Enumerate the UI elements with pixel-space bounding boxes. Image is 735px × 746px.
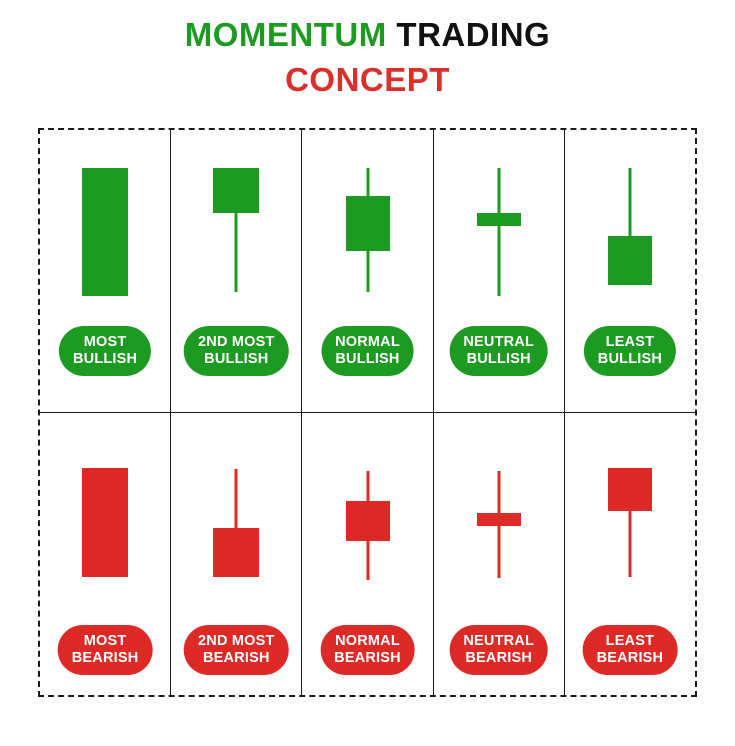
cell-normal-bearish[interactable]: NORMALBEARISH [302, 413, 433, 696]
badge-line-one: NEUTRAL [463, 633, 534, 649]
candlestick-body-center-both-wicks [302, 421, 432, 609]
badge-line-one: LEAST [606, 633, 655, 649]
badge-line-one: 2ND MOST [198, 334, 275, 350]
status-badge[interactable]: LEASTBEARISH [583, 625, 678, 675]
badge-line-one: LEAST [606, 334, 655, 350]
badge-line-two: BULLISH [198, 351, 275, 368]
candlestick-full-body-marubozu [40, 421, 170, 609]
badge-line-two: BEARISH [597, 650, 664, 667]
candle-body [346, 501, 390, 540]
candle-body [213, 168, 259, 213]
title-word-trading: TRADING [396, 16, 550, 53]
candle-body [477, 213, 521, 226]
candlestick-body-bottom-long-upper-wick [565, 138, 695, 326]
badge-line-two: BULLISH [463, 351, 534, 368]
bullish-row: MOSTBULLISH2ND MOSTBULLISHNORMALBULLISHN… [40, 130, 695, 413]
status-badge[interactable]: NORMALBEARISH [320, 625, 415, 675]
candlestick-body-center-both-wicks [302, 138, 432, 326]
badge-line-two: BEARISH [463, 650, 534, 667]
cell-most-bullish[interactable]: MOSTBULLISH [40, 130, 171, 412]
lower-wick [366, 251, 369, 292]
lower-wick [497, 526, 500, 579]
cell-neutral-bearish[interactable]: NEUTRALBEARISH [434, 413, 565, 696]
cell-neutral-bullish[interactable]: NEUTRALBULLISH [434, 130, 565, 412]
badge-line-two: BULLISH [335, 351, 400, 368]
cell-least-bearish[interactable]: LEASTBEARISH [565, 413, 695, 696]
candlestick-doji-thin-body-center [434, 138, 564, 326]
upper-wick [628, 168, 631, 236]
upper-wick [366, 471, 369, 501]
candlestick-body-top-long-lower-wick [171, 138, 301, 326]
upper-wick [235, 469, 238, 527]
badge-line-one: 2ND MOST [198, 633, 275, 649]
page-title: MOMENTUM TRADING CONCEPT [0, 0, 735, 96]
candlestick-body-top-long-lower-wick [565, 421, 695, 609]
title-word-momentum: MOMENTUM [185, 16, 387, 53]
lower-wick [366, 541, 369, 580]
lower-wick [497, 226, 500, 296]
candlestick-body-bottom-long-upper-wick [171, 421, 301, 609]
status-badge[interactable]: NEUTRALBULLISH [449, 326, 548, 376]
bearish-row: MOSTBEARISH2ND MOSTBEARISHNORMALBEARISHN… [40, 413, 695, 696]
candle-body [608, 468, 652, 511]
badge-line-one: NEUTRAL [463, 334, 534, 350]
candle-body [346, 196, 390, 251]
lower-wick [628, 511, 631, 577]
candle-body [213, 528, 259, 577]
candlestick-full-body-marubozu [40, 138, 170, 326]
cell-normal-bullish[interactable]: NORMALBULLISH [302, 130, 433, 412]
status-badge[interactable]: 2ND MOSTBEARISH [184, 625, 289, 675]
badge-line-one: MOST [84, 633, 127, 649]
candle-body [477, 513, 521, 526]
badge-line-two: BEARISH [198, 650, 275, 667]
status-badge[interactable]: NEUTRALBEARISH [449, 625, 548, 675]
title-word-concept: CONCEPT [0, 63, 735, 96]
title-line-one: MOMENTUM TRADING [0, 18, 735, 51]
badge-line-two: BULLISH [73, 351, 137, 368]
cell-most-bearish[interactable]: MOSTBEARISH [40, 413, 171, 696]
badge-line-one: MOST [84, 334, 127, 350]
candle-body [82, 168, 128, 296]
badge-line-two: BEARISH [334, 650, 401, 667]
status-badge[interactable]: NORMALBULLISH [321, 326, 414, 376]
status-badge[interactable]: 2ND MOSTBULLISH [184, 326, 289, 376]
candlestick-grid: MOSTBULLISH2ND MOSTBULLISHNORMALBULLISHN… [38, 128, 697, 697]
upper-wick [366, 168, 369, 196]
candle-body [608, 236, 652, 285]
candle-body [82, 468, 128, 577]
badge-line-two: BEARISH [72, 650, 139, 667]
badge-line-two: BULLISH [598, 351, 662, 368]
status-badge[interactable]: MOSTBULLISH [59, 326, 151, 376]
cell-2nd-most-bearish[interactable]: 2ND MOSTBEARISH [171, 413, 302, 696]
badge-line-one: NORMAL [335, 334, 400, 350]
cell-2nd-most-bullish[interactable]: 2ND MOSTBULLISH [171, 130, 302, 412]
upper-wick [497, 471, 500, 512]
candlestick-doji-thin-body-center [434, 421, 564, 609]
upper-wick [497, 168, 500, 213]
status-badge[interactable]: LEASTBULLISH [584, 326, 676, 376]
status-badge[interactable]: MOSTBEARISH [58, 625, 153, 675]
cell-least-bullish[interactable]: LEASTBULLISH [565, 130, 695, 412]
badge-line-one: NORMAL [335, 633, 400, 649]
lower-wick [235, 213, 238, 292]
